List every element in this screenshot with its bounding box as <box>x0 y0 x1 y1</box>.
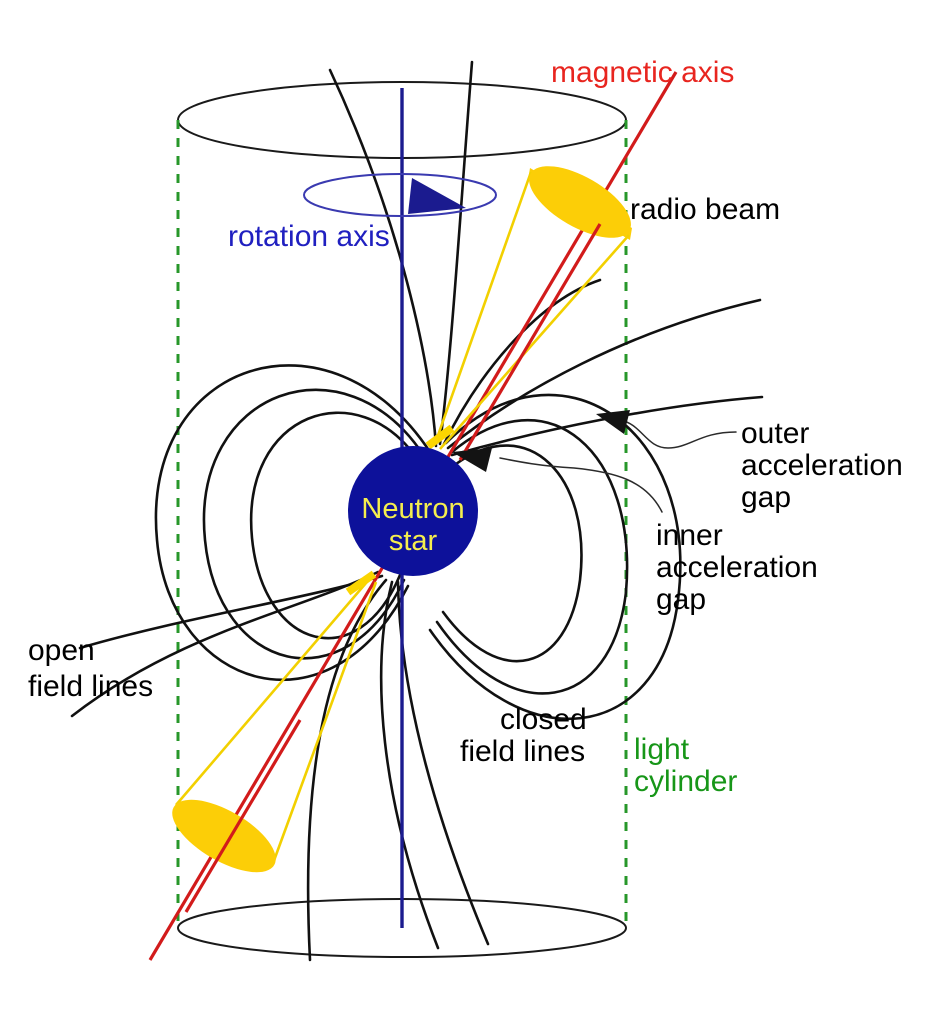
pulsar-diagram: Neutron star magnetic axis rotation axis… <box>0 0 936 1024</box>
inner-gap-label-line2: acceleration <box>656 551 818 584</box>
open-field-lines-label: open field lines <box>28 634 153 703</box>
rotation-axis-label: rotation axis <box>228 220 390 253</box>
radio-beam-lower-edge-left <box>176 576 372 805</box>
rotation-direction-ellipse <box>304 174 496 216</box>
neutron-star-group: Neutron star <box>348 446 478 576</box>
magnetic-axis-label: magnetic axis <box>551 56 734 89</box>
open-field-line <box>330 70 436 446</box>
outer-gap-label: outer acceleration gap <box>741 417 903 514</box>
outer-gap-pointer-curve <box>620 420 736 448</box>
radio-beam-lower-edge-right <box>272 582 376 866</box>
outer-gap-label-line2: acceleration <box>741 449 903 482</box>
closed-field-lines-label-line2: field lines <box>460 735 585 768</box>
light-cylinder-label: light cylinder <box>634 733 737 798</box>
inner-gap-label-line1: inner <box>656 519 723 552</box>
inner-gap-pointer-curve <box>500 458 662 512</box>
light-cylinder-label-line1: light <box>634 733 690 766</box>
neutron-star-label-line2: star <box>389 525 438 557</box>
pulsar-diagram-canvas: Neutron star magnetic axis rotation axis… <box>0 0 936 1024</box>
radio-beam-label: radio beam <box>630 193 780 226</box>
neutron-star-label-line1: Neutron <box>361 493 464 525</box>
closed-field-lines-label: closed field lines <box>460 703 587 768</box>
radio-beam-lower <box>161 576 376 887</box>
light-cylinder-label-line2: cylinder <box>634 765 737 798</box>
open-field-lines-label-line1: open <box>28 634 95 667</box>
closed-field-lines-right <box>430 395 680 719</box>
inner-gap-label: inner acceleration gap <box>656 519 818 616</box>
inner-gap-pointer <box>452 448 662 512</box>
rotation-direction-arrow-icon <box>408 178 466 214</box>
open-field-line <box>381 582 438 948</box>
closed-field-line <box>437 420 627 693</box>
outer-gap-label-line1: outer <box>741 417 809 450</box>
closed-field-lines-label-line1: closed <box>500 703 587 736</box>
inner-gap-label-line3: gap <box>656 583 706 616</box>
open-field-lines-label-line2: field lines <box>28 670 153 703</box>
outer-gap-pointer <box>596 410 736 448</box>
outer-gap-label-line3: gap <box>741 481 791 514</box>
closed-field-line <box>430 395 680 719</box>
